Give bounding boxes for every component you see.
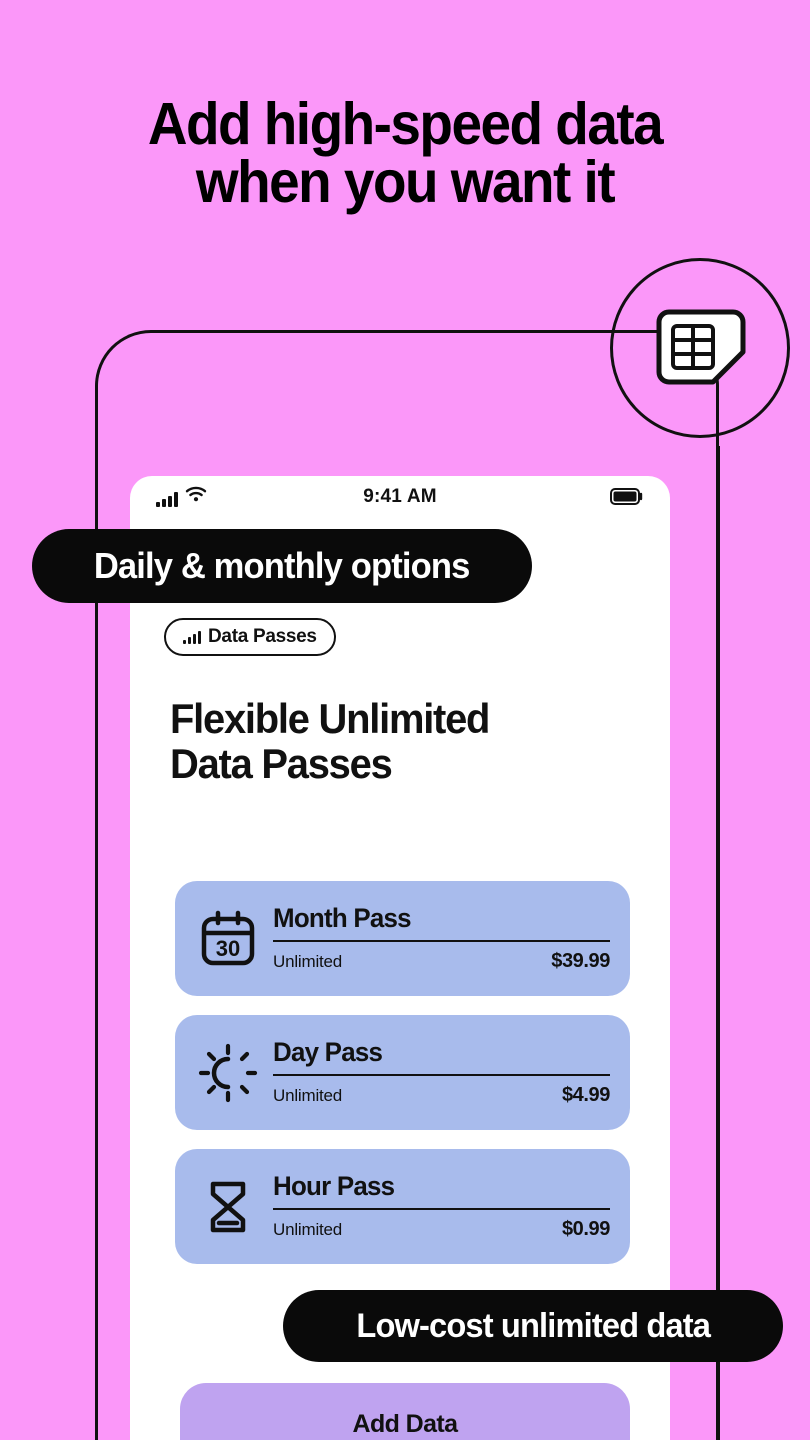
divider	[273, 1208, 610, 1210]
divider	[273, 1074, 610, 1076]
badge-daily-monthly-options-label: Daily & monthly options	[94, 545, 470, 587]
badge-daily-monthly-options: Daily & monthly options	[32, 529, 532, 603]
pass-detail: Unlimited	[273, 1086, 342, 1106]
add-data-button-label: Add Data	[353, 1410, 458, 1439]
pass-card-body: Day Pass Unlimited $4.99	[273, 1038, 612, 1106]
data-passes-chip[interactable]: Data Passes	[164, 618, 336, 656]
pass-card-body: Month Pass Unlimited $39.99	[273, 904, 612, 972]
pass-meta: Unlimited $0.99	[273, 1218, 610, 1241]
pass-detail: Unlimited	[273, 1220, 342, 1240]
headline-line-2: when you want it	[28, 154, 781, 212]
svg-text:30: 30	[216, 936, 240, 961]
pass-name: Month Pass	[273, 904, 597, 932]
pass-meta: Unlimited $4.99	[273, 1084, 610, 1107]
divider	[273, 940, 610, 942]
badge-low-cost-unlimited-data-label: Low-cost unlimited data	[356, 1307, 710, 1346]
pass-card-body: Hour Pass Unlimited $0.99	[273, 1172, 612, 1240]
pass-detail: Unlimited	[273, 952, 342, 972]
calendar-30-icon: 30	[195, 906, 261, 972]
status-time: 9:41 AM	[130, 486, 670, 508]
screen-title: Flexible Unlimited Data Passes	[170, 696, 617, 787]
sun-moon-icon	[195, 1040, 261, 1106]
pass-list: 30 Month Pass Unlimited $39.99	[175, 881, 630, 1283]
battery-full-icon	[610, 488, 644, 510]
pass-name: Hour Pass	[273, 1172, 597, 1200]
pass-price: $0.99	[562, 1218, 610, 1241]
pass-card-day[interactable]: Day Pass Unlimited $4.99	[175, 1015, 630, 1130]
pass-name: Day Pass	[273, 1038, 597, 1066]
badge-low-cost-unlimited-data: Low-cost unlimited data	[283, 1290, 783, 1362]
hourglass-icon	[195, 1174, 261, 1240]
data-passes-chip-label: Data Passes	[208, 626, 317, 648]
pass-meta: Unlimited $39.99	[273, 950, 610, 973]
pass-card-month[interactable]: 30 Month Pass Unlimited $39.99	[175, 881, 630, 996]
headline-line-1: Add high-speed data	[28, 96, 781, 154]
page-title: Add high-speed data when you want it	[28, 96, 781, 212]
pass-price: $4.99	[562, 1084, 610, 1107]
promo-stage: Add high-speed data when you want it	[0, 0, 810, 1440]
screen-title-line-1: Flexible Unlimited	[170, 696, 617, 741]
screen-title-line-2: Data Passes	[170, 741, 617, 786]
status-bar: 9:41 AM	[130, 476, 670, 522]
sim-card-icon	[655, 308, 747, 386]
add-data-button[interactable]: Add Data	[180, 1383, 630, 1440]
signal-bars-icon	[183, 631, 201, 644]
pass-price: $39.99	[551, 950, 610, 973]
pass-card-hour[interactable]: Hour Pass Unlimited $0.99	[175, 1149, 630, 1264]
